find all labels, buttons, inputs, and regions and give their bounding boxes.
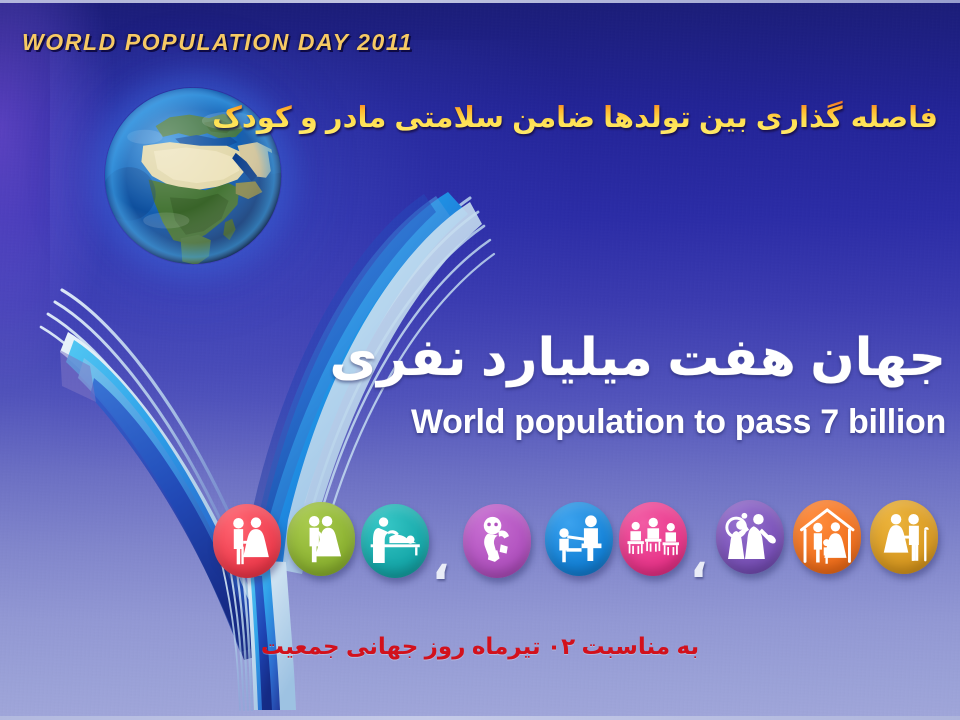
icon-infant-crawling	[463, 504, 531, 578]
icon-classroom-schooling	[619, 502, 687, 576]
separator-comma-1: ،	[432, 540, 449, 586]
icon-child-immunization	[545, 502, 613, 576]
separator-comma-2: ،	[690, 538, 707, 584]
icon-couple-embracing	[287, 502, 355, 576]
lifecycle-icon-row: ،	[0, 0, 960, 720]
poster-canvas: WORLD POPULATION DAY 2011 فاصله گذاری بی…	[0, 0, 960, 720]
icon-couple-holding-hands	[213, 504, 281, 578]
icon-family-home	[793, 500, 861, 574]
icon-childbirth-delivery	[361, 504, 429, 578]
icon-elderly-couple	[870, 500, 938, 574]
icon-youth-playing	[716, 500, 784, 574]
